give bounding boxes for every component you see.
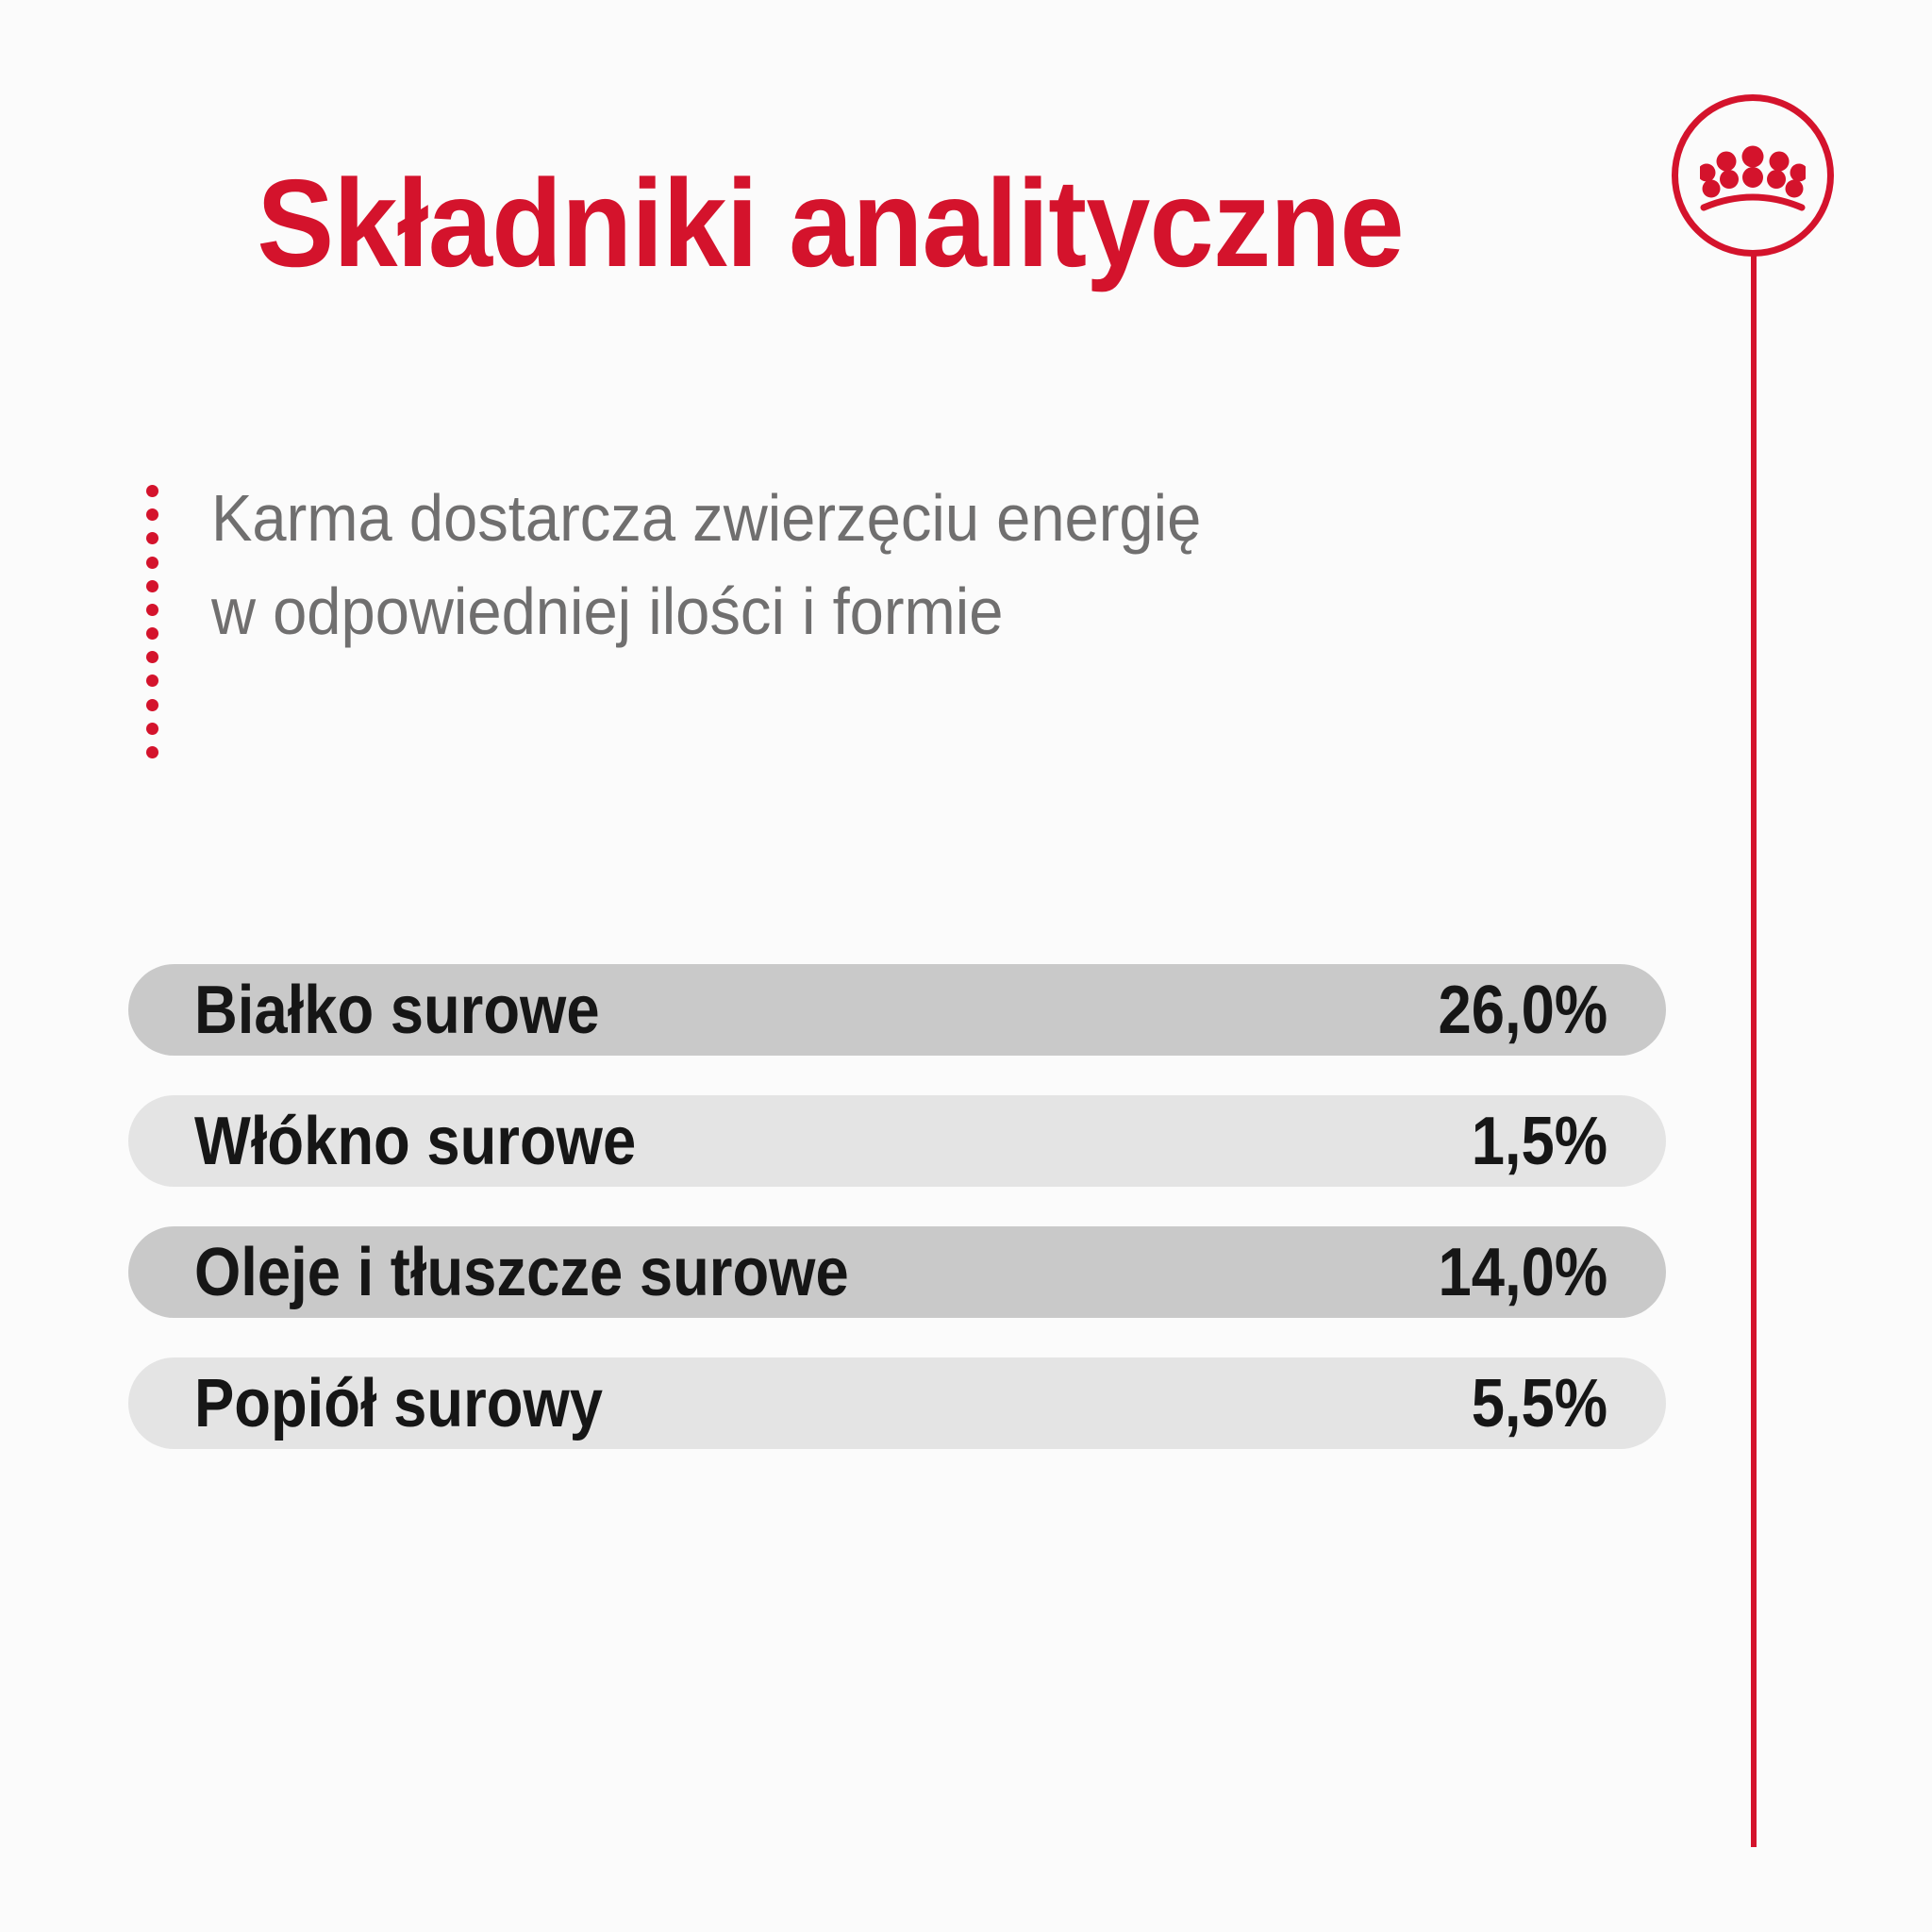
page-title: Składniki analityczne — [58, 157, 1603, 291]
table-row: Popiół surowy 5,5% — [128, 1357, 1666, 1449]
crown-glyph-icon — [1700, 143, 1806, 213]
table-row: Oleje i tłuszcze surowe 14,0% — [128, 1226, 1666, 1318]
row-value: 1,5% — [1472, 1108, 1607, 1175]
dotted-accent-rule — [142, 485, 162, 758]
row-value: 14,0% — [1438, 1239, 1607, 1307]
table-row: Włókno surowe 1,5% — [128, 1095, 1666, 1187]
logo-vertical-stem — [1751, 253, 1757, 1847]
intro-text: Karma dostarcza zwierzęciu energię w odp… — [211, 472, 1201, 659]
row-value: 26,0% — [1438, 976, 1607, 1044]
row-label: Włókno surowe — [194, 1108, 636, 1175]
analytical-composition-card: Składniki analityczne Karma dostarcza zw… — [0, 0, 1932, 1932]
row-label: Oleje i tłuszcze surowe — [194, 1239, 849, 1307]
analytical-table: Białko surowe 26,0% Włókno surowe 1,5% O… — [128, 964, 1666, 1489]
intro-block: Karma dostarcza zwierzęciu energię w odp… — [142, 472, 1462, 758]
royal-canin-crown-icon — [1672, 94, 1834, 257]
row-value: 5,5% — [1472, 1370, 1607, 1438]
intro-line-1: Karma dostarcza zwierzęciu energię — [211, 472, 1201, 565]
row-label: Popiół surowy — [194, 1370, 603, 1438]
intro-line-2: w odpowiedniej ilości i formie — [211, 565, 1201, 658]
row-label: Białko surowe — [194, 976, 600, 1044]
table-row: Białko surowe 26,0% — [128, 964, 1666, 1056]
